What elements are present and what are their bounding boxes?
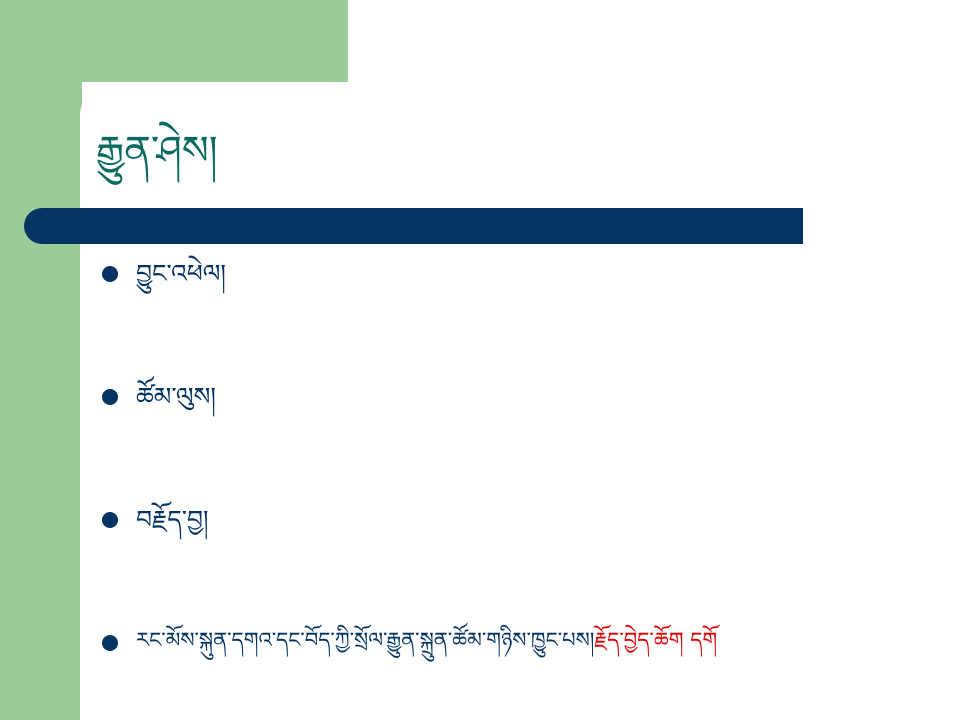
- bullet-point-icon: [102, 635, 118, 651]
- list-item-label: ཚོམ་ལུས།: [136, 381, 950, 414]
- list-item-label: རང་མོས་སྐུན་དགའ་དང་བོད་ཀྱི་སྲོལ་རྒྱུན་སྐ…: [136, 627, 950, 654]
- bullet-point-icon: [102, 512, 118, 528]
- slide-canvas: རྒྱུན་ཤེས། བྱུང་འཕེལ། ཚོམ་ལུས། བརྗོད་བྱ།…: [0, 0, 960, 720]
- list-item-label: བརྗོད་བྱ།: [136, 504, 950, 537]
- list-item[interactable]: བརྗོད་བྱ།: [100, 504, 950, 627]
- list-item[interactable]: བྱུང་འཕེལ།: [100, 258, 950, 381]
- bullet-point-icon: [102, 266, 118, 282]
- slide-title: རྒྱུན་ཤེས།: [96, 126, 796, 176]
- list-item-label-highlighted: རྗོད་བྱེད་ཆོག དགོ: [594, 628, 717, 652]
- list-item[interactable]: ཚོམ་ལུས།: [100, 381, 950, 504]
- bullet-list: བྱུང་འཕེལ། ཚོམ་ལུས། བརྗོད་བྱ། རང་མོས་སྐུ…: [100, 258, 950, 720]
- list-item[interactable]: རང་མོས་སྐུན་དགའ་དང་བོད་ཀྱི་སྲོལ་རྒྱུན་སྐ…: [100, 627, 950, 720]
- list-item-label-main: རང་མོས་སྐུན་དགའ་དང་བོད་ཀྱི་སྲོལ་རྒྱུན་སྐ…: [136, 628, 594, 652]
- title-accent-bar: [24, 208, 803, 244]
- bullet-point-icon: [102, 389, 118, 405]
- list-item-label: བྱུང་འཕེལ།: [136, 258, 950, 291]
- green-background-strip-left: [0, 0, 82, 720]
